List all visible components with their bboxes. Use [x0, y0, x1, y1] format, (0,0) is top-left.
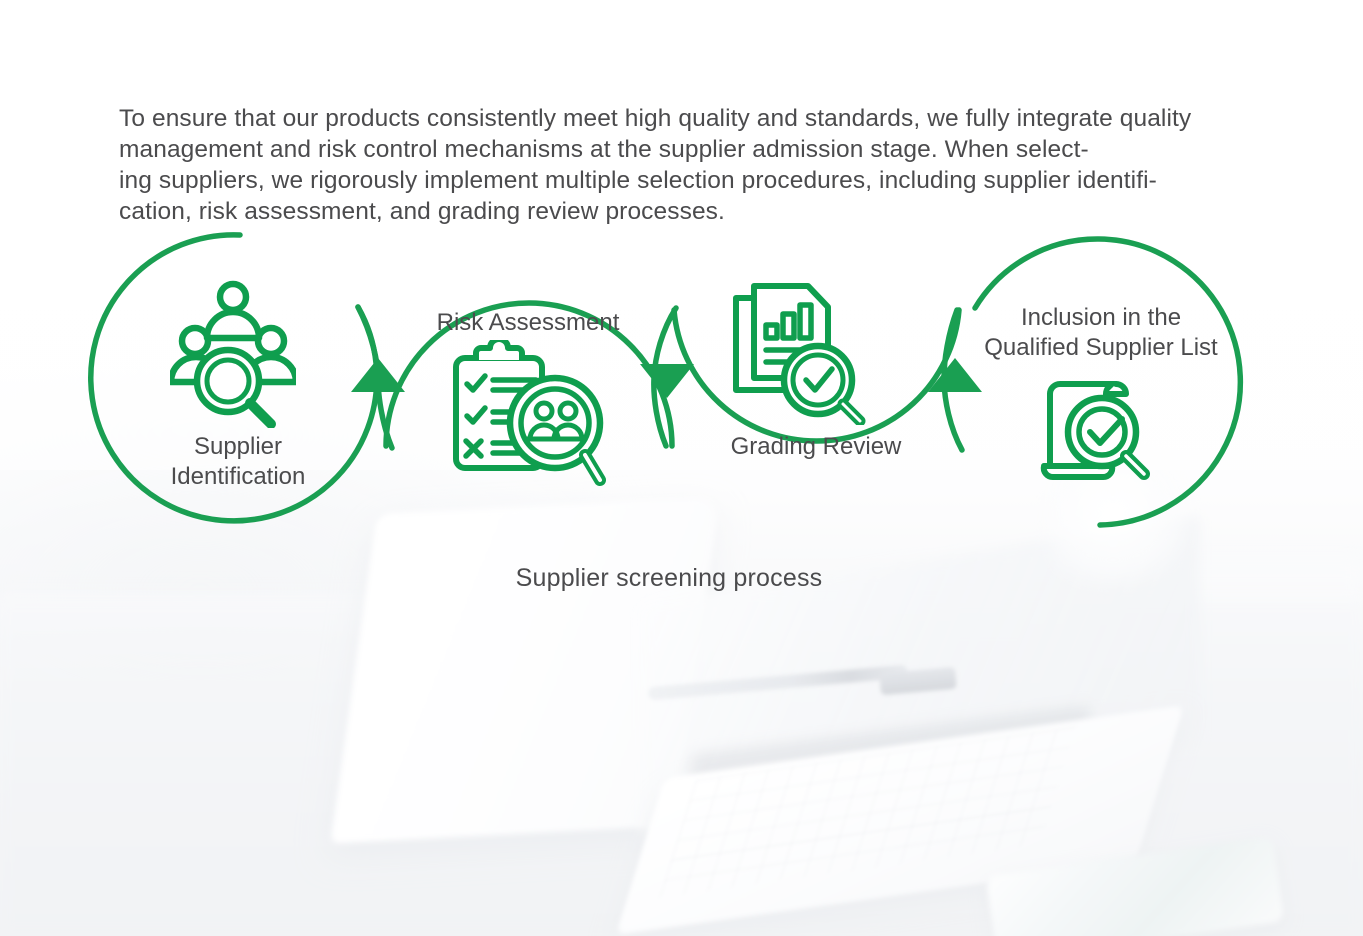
- flow-label-risk-assessment: Risk Assessment: [408, 308, 648, 338]
- certificate-scroll-magnifier-check-icon: [1034, 370, 1158, 499]
- infographic-page: To ensure that our products consistently…: [0, 0, 1363, 936]
- connector-supplier-identification-to-risk-assessment: [351, 307, 405, 448]
- arrow-down-icon: [640, 364, 694, 398]
- content-layer: To ensure that our products consistently…: [0, 0, 1363, 936]
- flow-label-grading-review: Grading Review: [696, 432, 936, 462]
- people-magnifier-icon: [170, 278, 296, 433]
- flow-label-qualified-supplier-list: Inclusion in the Qualified Supplier List: [962, 303, 1240, 363]
- flow-label-supplier-identification: Supplier Identification: [138, 432, 338, 492]
- clipboard-checklist-magnifier-people-icon: [452, 340, 607, 493]
- documents-chart-magnifier-check-icon: [732, 282, 884, 430]
- connector-risk-assessment-to-grading-review: [640, 308, 694, 446]
- diagram-caption: Supplier screening process: [469, 564, 869, 593]
- arrow-up-icon: [351, 358, 405, 392]
